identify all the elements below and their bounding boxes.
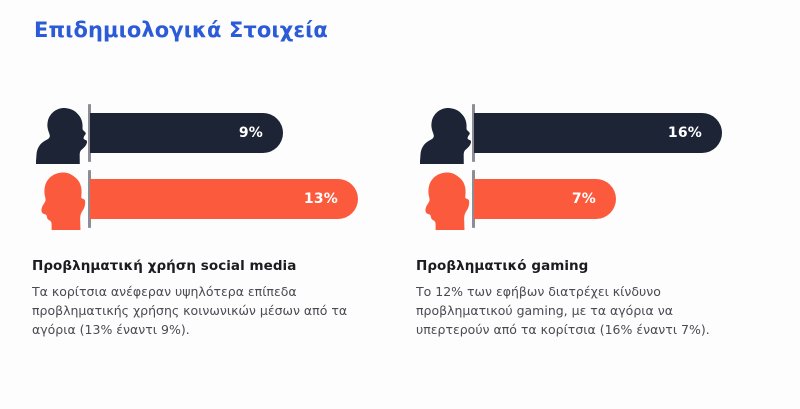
bar-value-label: 13%: [304, 191, 358, 207]
female-head-silhouette-icon: [36, 172, 88, 230]
female-head-silhouette-icon: [420, 172, 472, 230]
caption-body: Τα κορίτσια ανέφεραν υψηλότερα επίπεδα π…: [32, 282, 362, 339]
panel-social-media: 9% 13% Προβληματική χρήση soc: [28, 100, 408, 355]
chart-social-media: 9% 13%: [28, 100, 408, 240]
panels-container: 9% 13% Προβληματική χρήση soc: [0, 100, 800, 360]
bar-value-label: 7%: [572, 191, 616, 207]
bar-row-female: 13%: [28, 170, 408, 232]
male-head-silhouette-icon: [36, 106, 88, 164]
bar-row-male: 16%: [412, 104, 792, 166]
infographic-slide: Επιδημιολογικά Στοιχεία 9%: [0, 0, 800, 409]
bar-male: 16%: [474, 113, 722, 153]
bar-female: 7%: [474, 179, 616, 219]
male-head-silhouette-icon: [420, 106, 472, 164]
caption-gaming: Προβληματικό gaming Το 12% των εφήβων δι…: [416, 258, 746, 339]
caption-body: Το 12% των εφήβων διατρέχει κίνδυνο προβ…: [416, 282, 746, 339]
bar-value-label: 9%: [239, 125, 283, 141]
caption-social-media: Προβληματική χρήση social media Τα κορίτ…: [32, 258, 362, 339]
bar-row-male: 9%: [28, 104, 408, 166]
caption-title: Προβληματικό gaming: [416, 258, 746, 274]
bar-row-female: 7%: [412, 170, 792, 232]
bar-male: 9%: [90, 113, 283, 153]
panel-gaming: 16% 7% Προβληματικό gaming: [412, 100, 792, 355]
page-title: Επιδημιολογικά Στοιχεία: [34, 18, 328, 42]
bar-female: 13%: [90, 179, 358, 219]
chart-gaming: 16% 7%: [412, 100, 792, 240]
bar-value-label: 16%: [668, 125, 722, 141]
caption-title: Προβληματική χρήση social media: [32, 258, 362, 274]
